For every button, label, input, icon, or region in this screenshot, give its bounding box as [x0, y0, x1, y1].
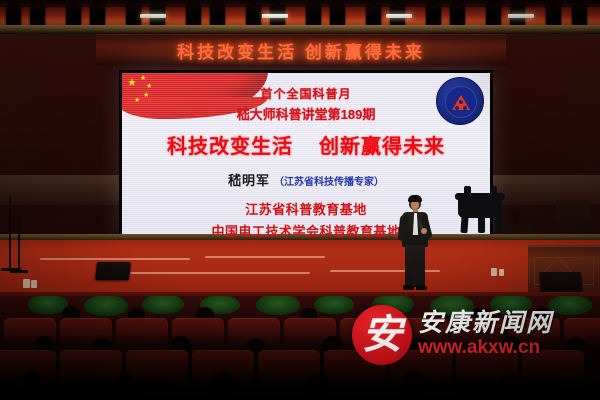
- stage-prop-item: [31, 280, 37, 288]
- stage-prop-item: [491, 268, 497, 276]
- presenter-hair: [408, 195, 422, 202]
- slide-main-title: 科技改变生活创新赢得未来: [167, 130, 445, 159]
- bronze-ding-vessel: [452, 186, 510, 234]
- audience-head: [500, 374, 524, 396]
- akxw-logo-icon: 安: [352, 305, 412, 365]
- slide-content: 首个全国科普月 嵇大师科普讲堂第189期 科技改变生活创新赢得未来 嵇明军（江苏…: [122, 73, 490, 237]
- audience-head: [400, 372, 425, 395]
- led-banner: 科技改变生活 创新赢得未来: [96, 34, 506, 66]
- ding-leg: [494, 216, 502, 233]
- watermark-url: www.akxw.cn: [418, 338, 553, 359]
- stage-monitor-speaker: [539, 272, 583, 292]
- watermark-text-block: 安康新闻网 www.akxw.cn: [418, 311, 553, 359]
- watermark: 安 安康新闻网 www.akxw.cn: [352, 300, 592, 370]
- ceiling-fluorescent-tube: [508, 14, 534, 18]
- stage-prop-item: [23, 279, 30, 288]
- stage-floor-marking: [205, 256, 325, 258]
- stage-prop-item: [499, 269, 504, 276]
- slide-title-left: 科技改变生活: [167, 136, 293, 158]
- ceiling-fluorescent-tube: [386, 14, 412, 18]
- audience-head: [306, 374, 330, 396]
- stage-floor-marking: [130, 272, 310, 274]
- ceiling-trim-strip: [0, 25, 600, 34]
- auditorium-seat: [60, 350, 122, 380]
- slide-base-line-1: 江苏省科普教育基地: [245, 199, 367, 218]
- slide-speaker-line: 嵇明军（江苏省科技传播专家）: [228, 170, 384, 190]
- ceiling-fluorescent-tube: [140, 14, 166, 18]
- decorative-plant: [256, 296, 300, 315]
- audience-head: [114, 374, 138, 396]
- decorative-plant: [142, 296, 184, 314]
- decorative-plant: [314, 296, 354, 314]
- auditorium-seat: [126, 350, 188, 380]
- projection-screen: ★ ★ ★ ★ ★ 首个全国科普月 嵇大师科普讲堂第189期 科技改变生活创新赢…: [122, 73, 490, 237]
- presenter-on-stage: [396, 196, 434, 293]
- presenter-leg-gap: [414, 252, 416, 284]
- presenter-face: [411, 201, 419, 209]
- presenter-shoe: [416, 285, 427, 290]
- presenter-shoe: [403, 285, 414, 290]
- audience-head: [20, 372, 44, 394]
- akxw-logo-glyph: 安: [352, 305, 412, 365]
- slide-header-line-1: 首个全国科普月: [260, 85, 351, 102]
- presenter-hand: [421, 228, 427, 234]
- decorative-plant: [84, 296, 128, 316]
- auditorium-seat: [116, 318, 168, 344]
- ding-body: [458, 196, 502, 218]
- stage-floor: [0, 240, 600, 298]
- audience-head: [210, 372, 235, 395]
- microphone-stand-pole: [18, 214, 20, 272]
- ding-leg: [460, 216, 468, 233]
- ceiling-light-truss: [0, 0, 600, 34]
- slide-header-line-2: 嵇大师科普讲堂第189期: [237, 104, 376, 123]
- auditorium-photo: 科技改变生活 创新赢得未来 ★ ★ ★ ★ ★ 首个全国科普月: [0, 0, 600, 400]
- stage-floor-marking: [40, 258, 190, 260]
- microphone-stand-pole: [9, 196, 11, 270]
- slide-title-right: 创新赢得未来: [319, 136, 445, 158]
- slide-base-line-2: 中国电工技术学会科普教育基地: [211, 221, 400, 237]
- watermark-site-name: 安康新闻网: [418, 311, 553, 336]
- stage-monitor-speaker: [95, 262, 131, 280]
- ceiling-fluorescent-tube: [262, 14, 288, 18]
- slide-speaker-role: （江苏省科技传播专家）: [274, 177, 384, 188]
- led-banner-text: 科技改变生活 创新赢得未来: [177, 38, 425, 63]
- microphone-stand-base: [10, 270, 28, 273]
- slide-speaker-name: 嵇明军: [228, 173, 270, 188]
- ding-leg: [478, 216, 485, 233]
- projection-screen-frame: ★ ★ ★ ★ ★ 首个全国科普月 嵇大师科普讲堂第189期 科技改变生活创新赢…: [119, 70, 493, 240]
